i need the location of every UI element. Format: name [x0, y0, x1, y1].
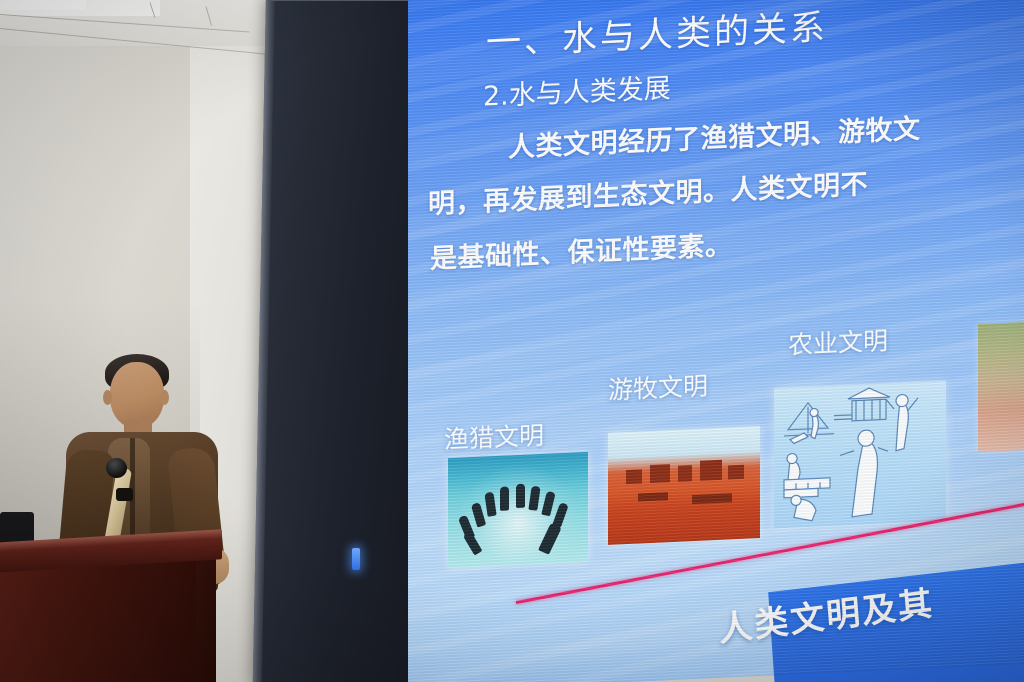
- slide-body-line-3: 是基础性、保证性要素。: [430, 223, 733, 276]
- display-bezel-top: [268, 0, 426, 1]
- ceiling-grid-line: [206, 6, 212, 26]
- slide-accent-line: [516, 494, 1024, 604]
- slide-body-line-2: 明，再发展到生态文明。人类文明不: [428, 162, 868, 221]
- caption-fishing-hunting: 渔猎文明: [444, 416, 544, 457]
- presentation-screen[interactable]: 一、水与人类的关系 2.水与人类发展 人类文明经历了渔猎文明、游牧文 明，再发展…: [408, 0, 1024, 682]
- slide-subtitle: 2.水与人类发展: [483, 66, 671, 114]
- slide-body-line-1: 人类文明经历了渔猎文明、游牧文: [508, 107, 921, 165]
- speaker-ear-left: [103, 390, 112, 405]
- podium-body: [0, 560, 196, 682]
- ceiling-light: [0, 0, 86, 10]
- caption-agricultural: 农业文明: [788, 321, 888, 362]
- speaker-lapel-badge: [116, 488, 133, 501]
- slide-text-layer: 一、水与人类的关系 2.水与人类发展 人类文明经历了渔猎文明、游牧文 明，再发展…: [408, 0, 1024, 682]
- power-led-indicator[interactable]: [352, 548, 360, 570]
- screenshot-root: 一、水与人类的关系 2.水与人类发展 人类文明经历了渔猎文明、游牧文 明，再发展…: [0, 0, 1024, 682]
- slide-canvas: 一、水与人类的关系 2.水与人类发展 人类文明经历了渔猎文明、游牧文 明，再发展…: [408, 0, 1024, 682]
- slide-footer-text: 人类文明及其: [716, 576, 935, 651]
- display-bezel: [253, 0, 426, 682]
- speaker-head: [110, 362, 164, 428]
- caption-nomadic: 游牧文明: [608, 366, 708, 407]
- ceiling-grid-line: [0, 14, 249, 32]
- speaker-ear-right: [160, 390, 169, 405]
- slide-title: 一、水与人类的关系: [486, 0, 828, 65]
